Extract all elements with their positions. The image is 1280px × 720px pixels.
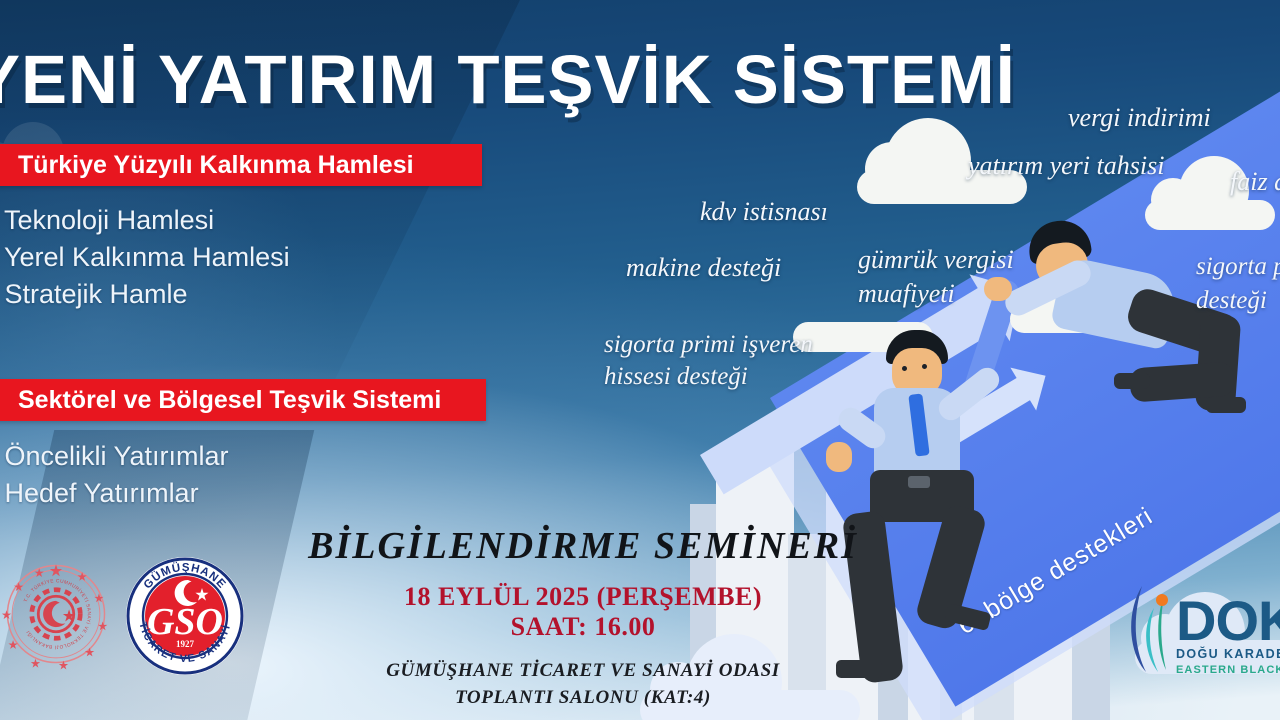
bullet-list-sektorel: - Öncelikli Yatırımlar - Hedef Yatırımla… <box>0 438 229 512</box>
incentive-label-makine: makine desteği <box>626 252 781 284</box>
incentive-label-kdv: kdv istisnası <box>700 196 828 228</box>
incentive-label-yatirim-yeri: yatırım yeri tahsisi <box>968 150 1164 182</box>
doka-logo: DOKA DOĞU KARADENİZ KALKI EASTERN BLACK … <box>1120 578 1280 678</box>
section-banner-sektorel: Sektörel ve Bölgesel Teşvik Sistemi <box>0 379 486 421</box>
seminar-title: BİLGİLENDİRME SEMİNERİ <box>283 524 883 568</box>
ministry-logo: T.C. TÜRKİYE CUMHURİYETİ SANAYİ VE TEKNO… <box>0 558 112 670</box>
seminar-info-block: BİLGİLENDİRME SEMİNERİ 18 EYLÜL 2025 (PE… <box>283 524 883 711</box>
poster-canvas: 6. bölge destekleri <box>0 0 1280 720</box>
incentive-label-faiz: faiz d <box>1230 166 1280 198</box>
list-item: - Öncelikli Yatırımlar <box>0 438 229 475</box>
bullet-list-kalkinma: - Teknoloji Hamlesi - Yerel Kalkınma Ham… <box>0 202 290 313</box>
svg-text:EASTERN BLACK SEA DEVELO: EASTERN BLACK SEA DEVELO <box>1176 664 1280 676</box>
seminar-venue-line2: TOPLANTI SALONU (KAT:4) <box>283 685 883 712</box>
list-item: - Yerel Kalkınma Hamlesi <box>0 239 290 276</box>
svg-text:GSO: GSO <box>147 601 223 643</box>
gtso-logo: GSO 1927 GÜMÜŞHANE TİCARET VE SANAYİ ODA… <box>125 556 245 676</box>
list-item: - Hedef Yatırımlar <box>0 475 229 512</box>
svg-text:DOĞU KARADENİZ KALKI: DOĞU KARADENİZ KALKI <box>1176 646 1280 661</box>
incentive-label-vergi-indirimi: vergi indirimi <box>1068 102 1211 134</box>
list-item: - Stratejik Hamle <box>0 276 290 313</box>
svg-text:DOKA: DOKA <box>1176 589 1280 652</box>
page-title: YENİ YATIRIM TEŞVİK SİSTEMİ <box>0 40 1034 119</box>
seminar-date: 18 EYLÜL 2025 (PERŞEMBE) <box>283 582 883 612</box>
incentive-label-gumruk-line2: muafiyeti <box>858 278 955 310</box>
seminar-venue-line1: GÜMÜŞHANE TİCARET VE SANAYİ ODASI <box>283 658 883 685</box>
incentive-label-sigorta-primi-line1: sigorta p <box>1196 252 1280 283</box>
seminar-time: SAAT: 16.00 <box>283 612 883 642</box>
incentive-label-sigorta-primi-line2: desteği <box>1196 286 1267 317</box>
section-banner-kalkinma: Türkiye Yüzyılı Kalkınma Hamlesi <box>0 144 482 186</box>
incentive-label-sigorta-isveren-line1: sigorta primi işveren <box>604 330 813 361</box>
svg-text:1927: 1927 <box>176 639 195 649</box>
incentive-label-sigorta-isveren-line2: hissesi desteği <box>604 362 748 393</box>
seminar-venue: GÜMÜŞHANE TİCARET VE SANAYİ ODASI TOPLAN… <box>283 658 883 711</box>
list-item: - Teknoloji Hamlesi <box>0 202 290 239</box>
incentive-label-gumruk-line1: gümrük vergisi <box>858 244 1014 276</box>
